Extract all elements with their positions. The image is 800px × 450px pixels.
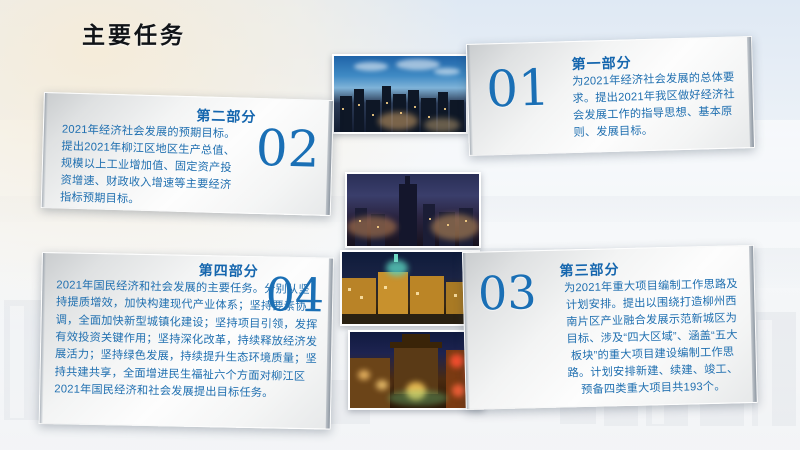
section-panel-02[interactable]: 02 第二部分 2021年经济社会发展的预期目标。提出2021年柳江区地区生产总… [41, 92, 334, 216]
photo-image [342, 252, 478, 324]
photo-image [347, 174, 479, 246]
slide-canvas: 主要任务 [0, 0, 800, 450]
section-number-02: 02 [255, 123, 320, 175]
city-skyline-dusk-photo [332, 54, 468, 134]
section-number-03: 03 [477, 269, 537, 316]
section-number-01: 01 [486, 63, 551, 115]
waterfront-buildings-night-photo [340, 250, 480, 326]
section-heading-01: 第一部分 [571, 52, 632, 74]
section-panel-03[interactable]: 03 第三部分 为2021年重大项目编制工作思路及计划安排。提出以围绕打造柳州西… [462, 245, 758, 410]
section-body-03: 为2021年重大项目编制工作思路及计划安排。提出以围绕打造柳州西南片区产业融合发… [560, 276, 745, 400]
page-title: 主要任务 [82, 16, 186, 50]
section-body-01: 为2021年经济社会发展的总体要求。提出2021年我区做好经济社会发展工作的指导… [572, 69, 742, 142]
photo-image [350, 332, 482, 408]
section-body-02: 2021年经济社会发展的预期目标。提出2021年柳江区地区生产总值、规模以上工业… [60, 122, 238, 212]
section-panel-04[interactable]: 04 第四部分 2021年国民经济和社会发展的主要任务。分别从坚持提质增效，加快… [39, 252, 334, 430]
section-heading-03: 第三部分 [559, 259, 619, 280]
section-panel-01[interactable]: 01 第一部分 为2021年经济社会发展的总体要求。提出2021年我区做好经济社… [466, 36, 755, 156]
photo-image [334, 56, 466, 132]
section-heading-04: 第四部分 [198, 260, 258, 281]
section-heading-02: 第二部分 [196, 105, 257, 127]
section-body-04: 2021年国民经济和社会发展的主要任务。分别从坚持提质增效，加快构建现代产业体系… [54, 277, 320, 404]
city-night-aerial-photo [345, 172, 481, 248]
